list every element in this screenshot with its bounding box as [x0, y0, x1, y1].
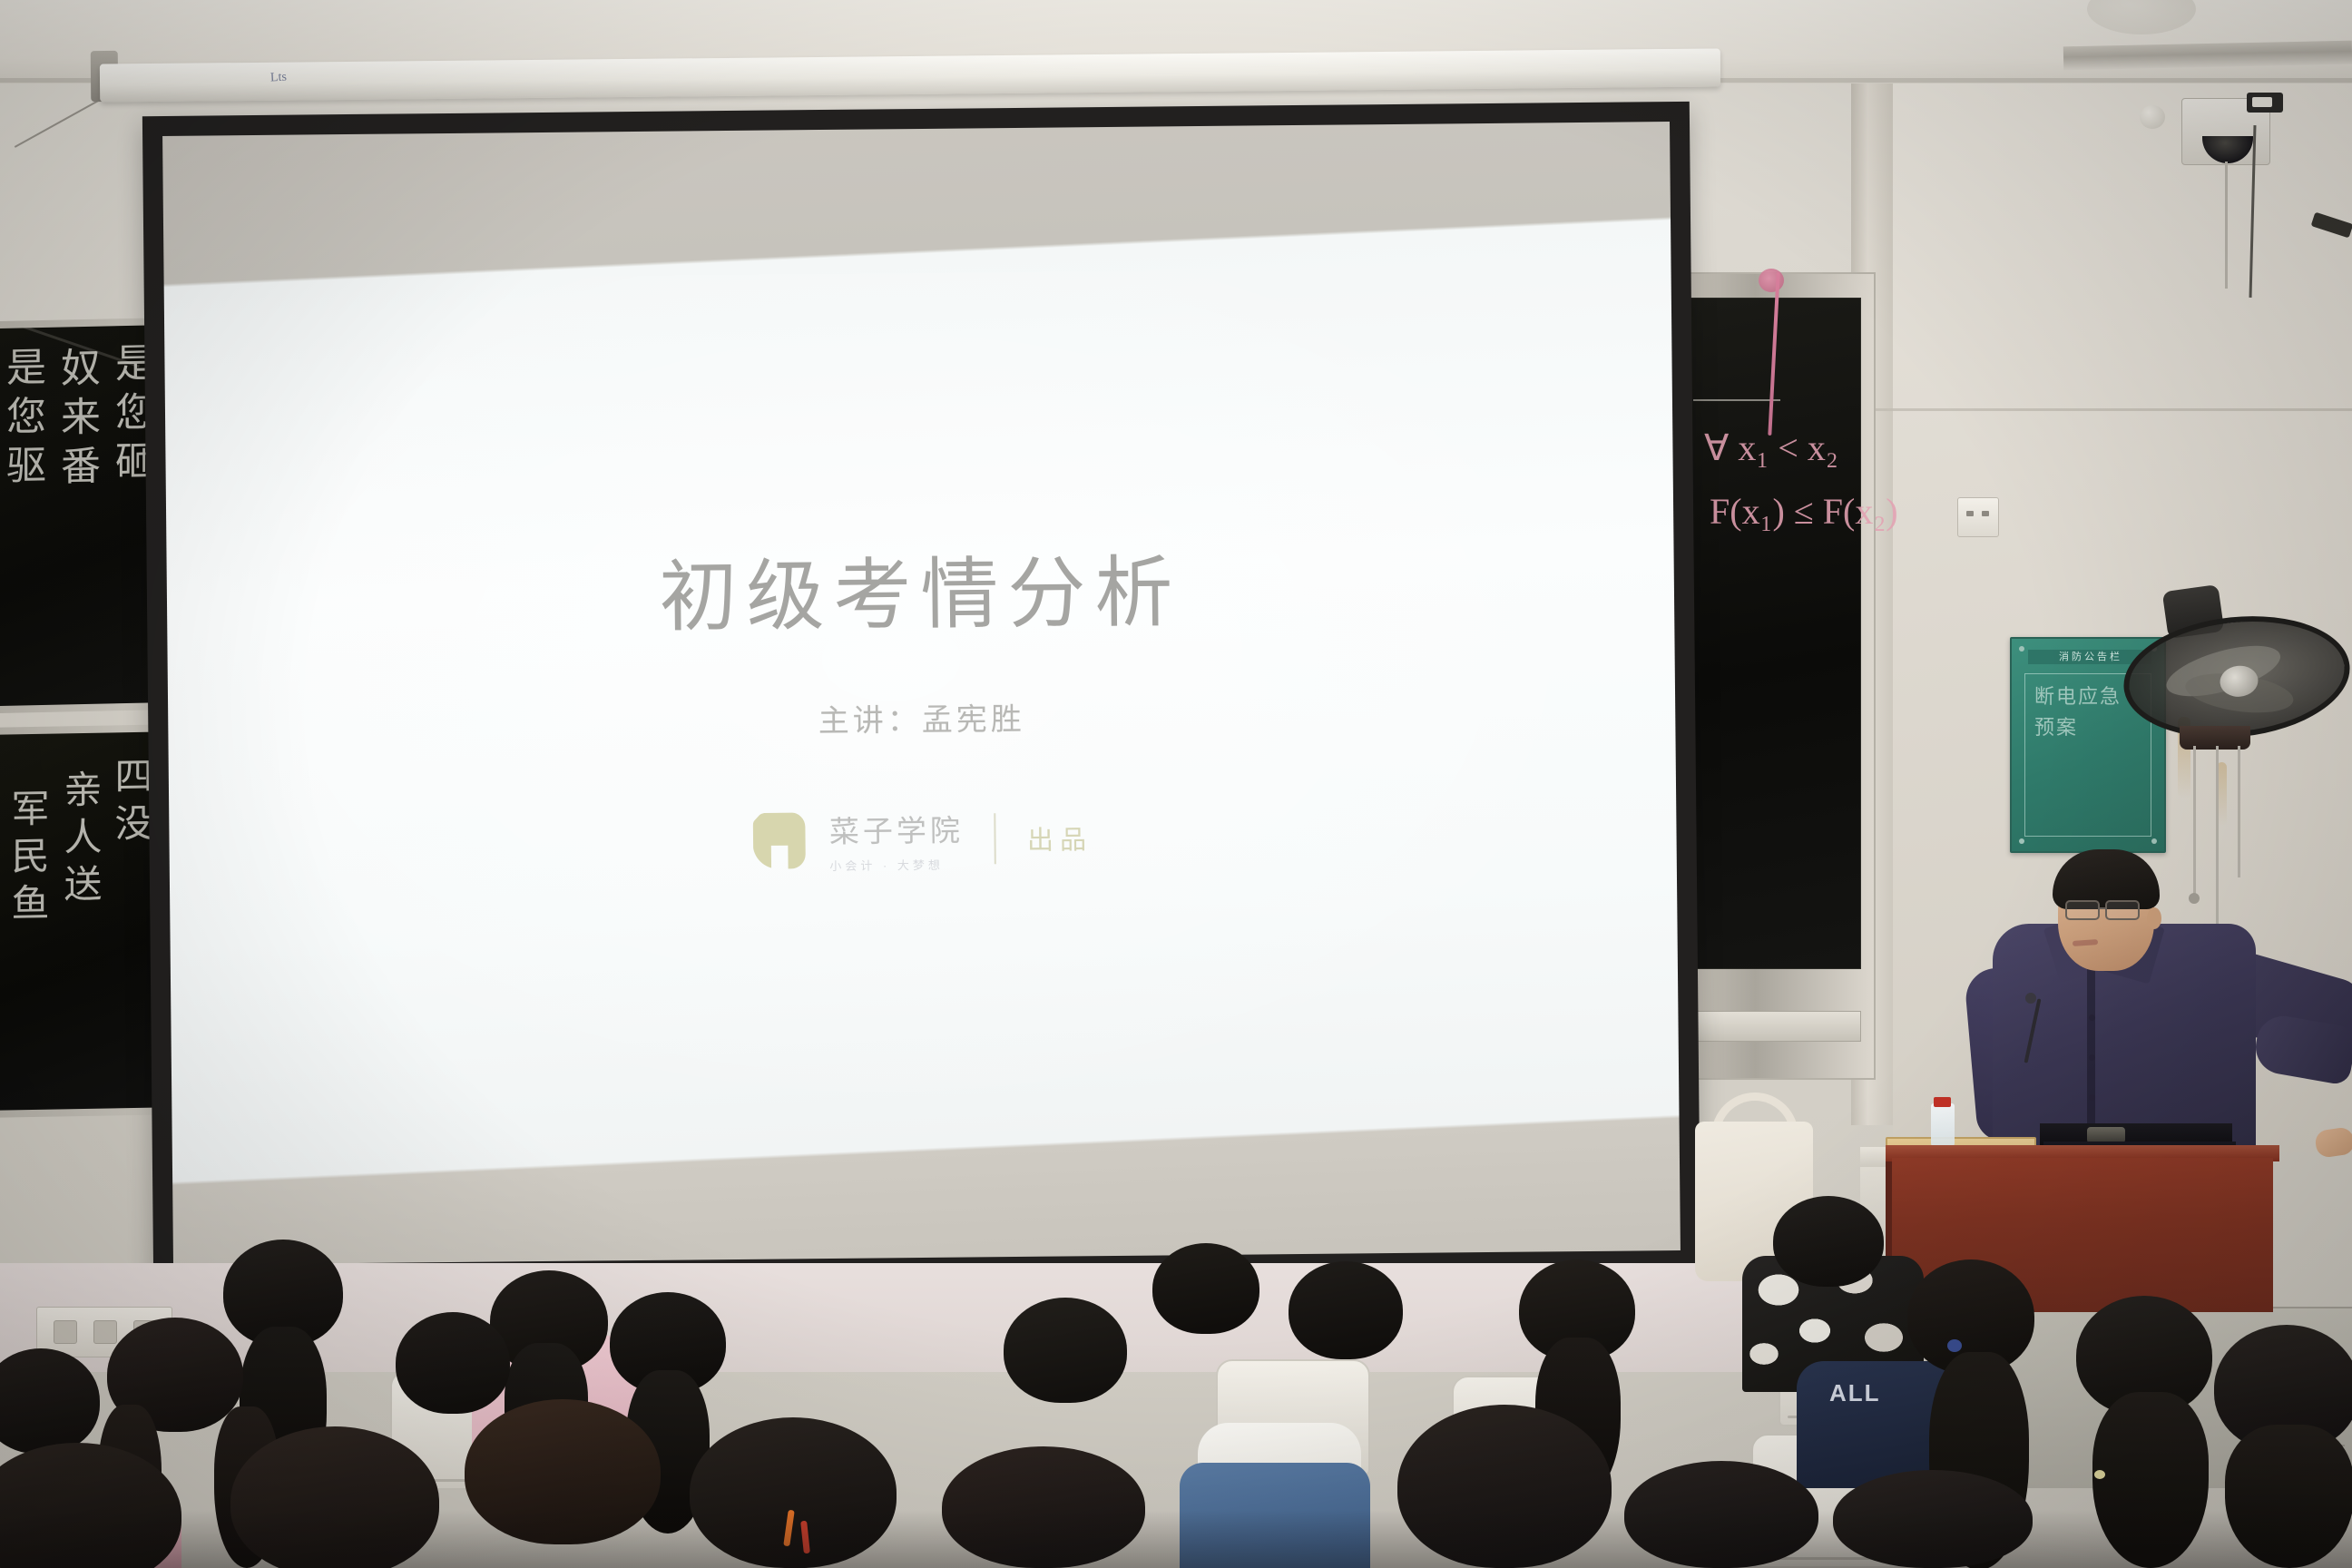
blackboard-formula-2: F(x₁) ≤ F(x₂) [1710, 490, 1898, 533]
student-head [1773, 1196, 1884, 1287]
student-ponytail [2225, 1425, 2352, 1568]
glasses-bridge [2099, 907, 2107, 909]
fan-cord-ball[interactable] [2189, 893, 2200, 904]
classroom-scene: 消防公告栏 断电应急 预案 是您砸 奴来番 是您驱 四没 亲人送 军民鱼 [0, 0, 2352, 1568]
screen-roller-label: Lts [270, 71, 288, 86]
wall-seam [1860, 408, 2352, 411]
glasses-icon [2105, 900, 2140, 920]
fan-pull-cord[interactable] [2216, 746, 2219, 932]
sign-screw [2151, 838, 2157, 844]
shirt-button [2089, 1054, 2095, 1061]
logo-text-block: 菜子学院 小会计 · 大梦想 [829, 806, 965, 873]
chalk-column: 亲人送 [52, 769, 107, 912]
student-head [396, 1312, 510, 1414]
microphone-icon [2025, 993, 2036, 1004]
sign-screw [2019, 838, 2024, 844]
student-head-front [1397, 1405, 1612, 1568]
water-bottle[interactable] [1931, 1103, 1955, 1147]
glasses-icon [2065, 900, 2100, 920]
student-head-front [1624, 1461, 1818, 1568]
notice-sign-hand-line-2: 预案 [2034, 714, 2143, 741]
projection-screen[interactable]: 初级考情分析 主讲：孟宪胜 菜子学院 小会计 · 大梦想 出品 [142, 102, 1700, 1285]
camera-cable [2225, 162, 2228, 289]
caizi-logo-icon [753, 813, 807, 870]
chalk-tray [1685, 1011, 1861, 1042]
student-head-front [230, 1426, 439, 1568]
shirt-button [2089, 1014, 2095, 1021]
logo-name: 菜子学院 [829, 806, 964, 850]
slide-content: 初级考情分析 主讲：孟宪胜 菜子学院 小会计 · 大梦想 出品 [164, 266, 1680, 1137]
blackboard-left-lower-frame: 四没 亲人送 军民鱼 [0, 724, 172, 1117]
chalk-column: 是您驱 [0, 346, 51, 494]
student-head-front [942, 1446, 1145, 1568]
blackboard-right-frame [1674, 272, 1876, 1080]
jacket-text: ALL [1829, 1379, 1881, 1407]
student-denim-jacket [1180, 1463, 1370, 1568]
hair-clip [2094, 1470, 2105, 1479]
wall-knob [2140, 105, 2165, 129]
chalk-arrow [1693, 399, 1780, 401]
fan-pull-cord[interactable] [2193, 746, 2196, 896]
logo-divider [995, 814, 997, 865]
student-ponytail [2092, 1392, 2209, 1568]
camera-module-icon [2247, 93, 2283, 113]
student-head [1289, 1261, 1403, 1359]
slide-subtitle: 主讲：孟宪胜 [818, 694, 1025, 740]
shirt-button [2089, 1094, 2095, 1101]
slide-footer: 菜子学院 小会计 · 大梦想 出品 [753, 805, 1093, 875]
blackboard-left-lower: 四没 亲人送 军民鱼 [0, 731, 165, 1110]
slide-title: 初级考情分析 [659, 528, 1182, 647]
chalk-column: 军民鱼 [0, 789, 54, 931]
student-head [1152, 1243, 1259, 1334]
student-head [1004, 1298, 1127, 1403]
screen-surface: 初级考情分析 主讲：孟宪胜 菜子学院 小会计 · 大梦想 出品 [162, 122, 1681, 1265]
student-head-front [465, 1399, 661, 1544]
pink-string-knot [1759, 269, 1784, 292]
student-head-front [1833, 1470, 2033, 1568]
bottle-cap-icon [1934, 1097, 1951, 1107]
logo-tagline: 小会计 · 大梦想 [829, 856, 944, 874]
presenter-ear [2147, 907, 2161, 929]
blackboard-right [1689, 298, 1861, 969]
light-switch-icon[interactable] [1957, 497, 1999, 537]
chalk-column: 奴来番 [47, 347, 105, 495]
fan-pull-cord[interactable] [2238, 746, 2240, 877]
student-head-front [690, 1417, 897, 1568]
sign-screw [2019, 646, 2024, 652]
produced-label: 出品 [1027, 819, 1093, 858]
hair-scrunchie [1947, 1339, 1962, 1352]
